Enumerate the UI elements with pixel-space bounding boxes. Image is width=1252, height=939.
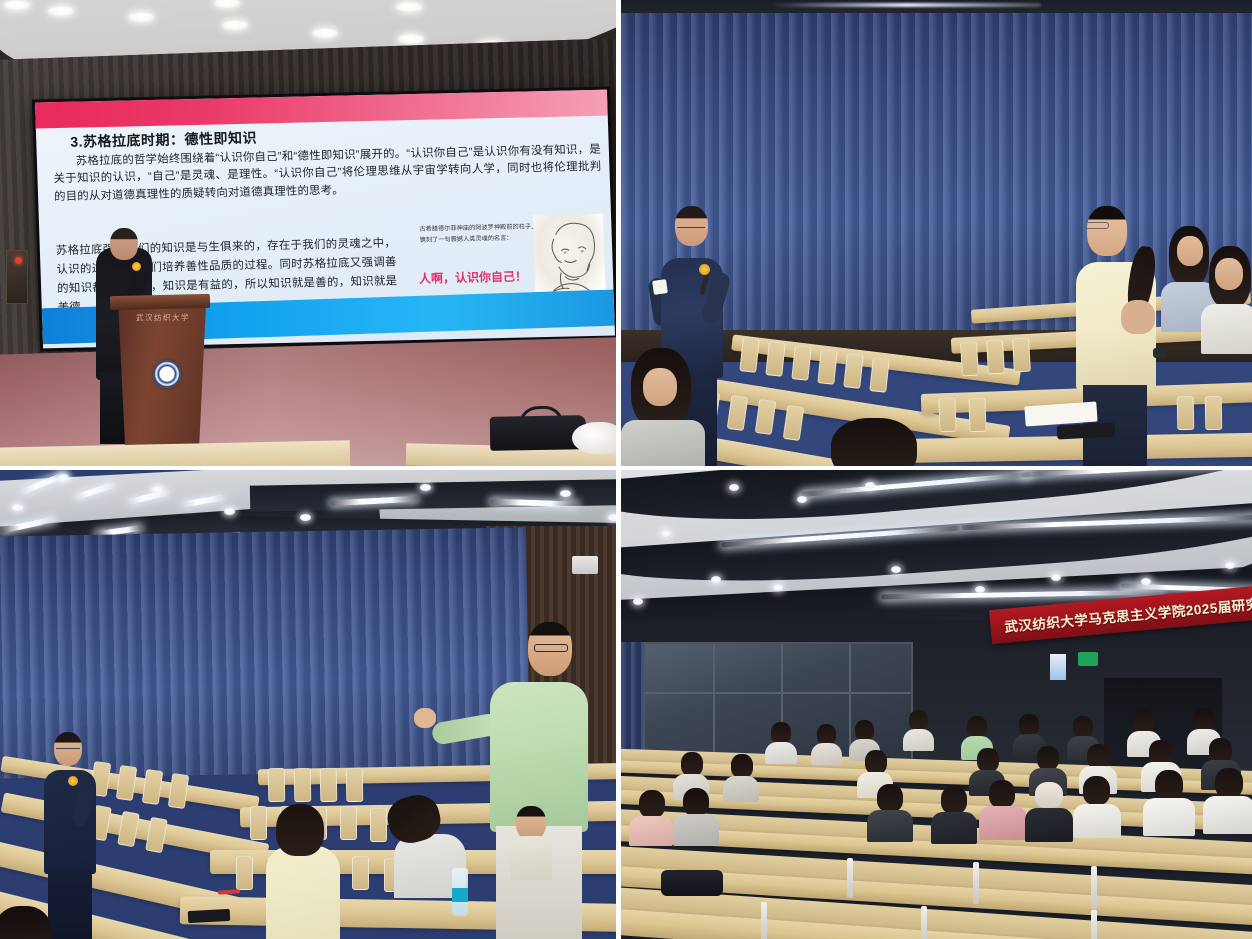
indicator-led-icon — [15, 257, 22, 264]
spotlight-icon — [797, 496, 807, 503]
seat-back — [268, 768, 286, 802]
audience-head — [1133, 710, 1154, 733]
exit-sign-icon — [1078, 652, 1098, 666]
desk-leg — [761, 902, 767, 939]
audience-torso — [1203, 796, 1252, 834]
photo-panel-top-right — [621, 0, 1252, 470]
audience-torso — [629, 816, 673, 846]
desk-leg — [1091, 910, 1097, 939]
audience-head — [877, 784, 903, 812]
audience-head — [683, 788, 709, 816]
photo-panel-top-left: 3.苏格拉底时期：德性即知识 苏格拉底的哲学始终围绕着“认识你自己”和“德性即知… — [0, 0, 621, 470]
seat-back — [116, 765, 138, 801]
audience-head — [967, 716, 987, 738]
spotlight-icon — [633, 598, 643, 605]
audience-torso — [1143, 798, 1195, 836]
seated-student-head — [516, 806, 546, 840]
seat-back — [1177, 396, 1195, 430]
audience-torso — [979, 806, 1027, 840]
audience-head — [909, 710, 928, 731]
audience-head — [1037, 746, 1059, 770]
audience-torso — [931, 812, 977, 844]
seat-back — [250, 806, 267, 840]
slide-paragraph-1-text: 苏格拉底的哲学始终围绕着“认识你自己”和“德性即知识”展开的。“认识你自己”是认… — [53, 142, 603, 207]
audience-head — [865, 750, 887, 774]
audience-torso — [1025, 808, 1073, 842]
wall-poster — [1050, 654, 1066, 680]
seat-back — [791, 345, 811, 381]
seated-student-torso — [266, 846, 340, 939]
spotlight-icon — [661, 530, 671, 537]
spotlight-icon — [865, 482, 875, 489]
microphone-icon — [132, 262, 141, 271]
seat-back — [783, 405, 805, 441]
spotlight-icon — [975, 586, 985, 593]
lecturer-head — [54, 732, 82, 766]
glasses-icon — [534, 644, 568, 652]
seat-back — [938, 398, 956, 433]
white-object — [572, 422, 621, 454]
glasses-icon — [1083, 222, 1109, 229]
audience-head — [1019, 714, 1039, 736]
seat-back — [986, 340, 1005, 375]
seat-back — [142, 769, 164, 805]
ceiling-light-strip — [771, 3, 1041, 7]
podium-top — [110, 294, 210, 310]
seat-back — [168, 773, 190, 809]
spotlight-icon — [420, 484, 431, 491]
audience-face — [1177, 236, 1203, 266]
seat-back — [843, 353, 863, 389]
downlight-icon — [48, 6, 74, 16]
photo-collage: 3.苏格拉底时期：德性即知识 苏格拉底的哲学始终围绕着“认识你自己”和“德性即知… — [0, 0, 1252, 939]
glasses-icon — [56, 744, 80, 749]
seat-back — [765, 341, 785, 377]
seat-back — [294, 768, 312, 802]
desk-leg — [847, 858, 853, 898]
microphone-icon — [68, 776, 78, 786]
seat-back — [960, 342, 979, 377]
downlight-icon — [4, 0, 30, 10]
university-seal-icon — [153, 360, 181, 388]
seat-back — [236, 856, 253, 890]
audience-head — [989, 780, 1015, 808]
backpack — [661, 870, 723, 896]
emergency-panel — [6, 250, 28, 304]
audience-torso — [903, 729, 934, 751]
glasses-icon — [677, 222, 705, 228]
podium-label: 武汉纺织大学 — [124, 312, 202, 323]
microphone-icon — [699, 264, 710, 275]
spotlight-icon — [300, 514, 311, 521]
seated-student-head — [276, 804, 324, 856]
audience-hand — [1121, 300, 1155, 334]
slide-quote-caption: 古希腊德尔菲神庙的阿波罗神殿前的柱子上镌刻了一句震撼人类灵魂的名言： — [419, 221, 538, 246]
seat-back — [1205, 396, 1223, 430]
lecturer-legs — [48, 868, 92, 939]
photo-panel-bottom-left — [0, 470, 621, 939]
audience-torso — [723, 776, 759, 802]
slide-title: 3.苏格拉底时期：德性即知识 — [70, 128, 257, 152]
audience-head — [1083, 776, 1110, 805]
spotlight-icon — [729, 484, 739, 491]
audience-torso — [765, 742, 797, 764]
pen-icon — [218, 889, 240, 895]
audience-face — [643, 368, 677, 406]
mullion — [645, 692, 911, 694]
wall-fixture — [572, 556, 598, 574]
audience-head — [731, 754, 753, 778]
paper-slip — [652, 279, 668, 295]
audience-member — [831, 418, 917, 470]
seat-back — [340, 806, 357, 840]
spotlight-icon — [58, 474, 69, 481]
audience-torso — [811, 743, 842, 765]
phone-icon — [188, 909, 231, 923]
slide-quote-highlight: 人啊，认识你自己！ — [419, 267, 528, 286]
bottle-label — [452, 888, 468, 902]
student-head — [1087, 206, 1127, 256]
socrates-bust-icon — [533, 214, 606, 302]
audience-torso — [673, 814, 719, 846]
audience-head — [817, 724, 836, 745]
audience-head — [941, 786, 967, 814]
slide-paragraph-1: 苏格拉底的哲学始终围绕着“认识你自己”和“德性即知识”展开的。“认识你自己”是认… — [53, 142, 603, 207]
spotlight-icon — [608, 514, 619, 521]
wristwatch-icon — [1153, 348, 1167, 358]
spotlight-icon — [1225, 562, 1235, 569]
seat-back — [727, 395, 749, 431]
spotlight-icon — [1141, 578, 1151, 585]
audience-cap-icon — [1035, 782, 1063, 808]
audience-head — [977, 748, 999, 772]
spotlight-icon — [891, 566, 901, 573]
spotlight-icon — [773, 584, 783, 591]
seat-back — [352, 856, 369, 890]
audience-torso — [1201, 304, 1252, 354]
audience-head — [1155, 770, 1183, 800]
audience-torso — [867, 810, 913, 842]
audience-head — [681, 752, 703, 776]
desk-leg — [973, 862, 979, 904]
downlight-icon — [128, 12, 154, 22]
mullion — [713, 644, 715, 760]
seat-back — [739, 337, 759, 373]
audience-head — [855, 720, 874, 741]
seat-back — [817, 349, 837, 385]
spotlight-icon — [12, 504, 23, 511]
seat-back — [1012, 338, 1031, 373]
spotlight-icon — [711, 576, 721, 583]
audience-head — [1193, 708, 1214, 731]
downlight-icon — [222, 20, 248, 30]
audience-head — [771, 722, 791, 744]
seat-back — [968, 398, 986, 433]
spotlight-icon — [152, 486, 163, 493]
desk-leg — [1091, 866, 1097, 910]
downlight-icon — [398, 34, 424, 44]
spotlight-icon — [1051, 574, 1061, 581]
downlight-icon — [396, 2, 422, 12]
seated-student-torso — [510, 836, 552, 880]
audience-face — [1215, 258, 1243, 290]
photo-panel-bottom-right: 武汉纺织大学马克思主义学院2025届研究 — [621, 470, 1252, 939]
audience-torso — [1073, 804, 1121, 838]
seat-back — [346, 768, 364, 802]
spotlight-icon — [560, 490, 571, 497]
audience-head — [1215, 768, 1243, 798]
student-hand — [414, 708, 436, 728]
seat-back — [370, 808, 387, 842]
desk-leg — [921, 906, 927, 939]
seat-back — [755, 399, 777, 435]
audience-head — [1073, 716, 1093, 738]
seat-back — [320, 768, 338, 802]
speaker-head — [110, 228, 138, 260]
audience-torso — [621, 420, 705, 470]
seat-back — [869, 357, 889, 393]
audience-head — [639, 790, 665, 818]
downlight-icon — [312, 28, 338, 38]
spotlight-icon — [224, 508, 235, 515]
